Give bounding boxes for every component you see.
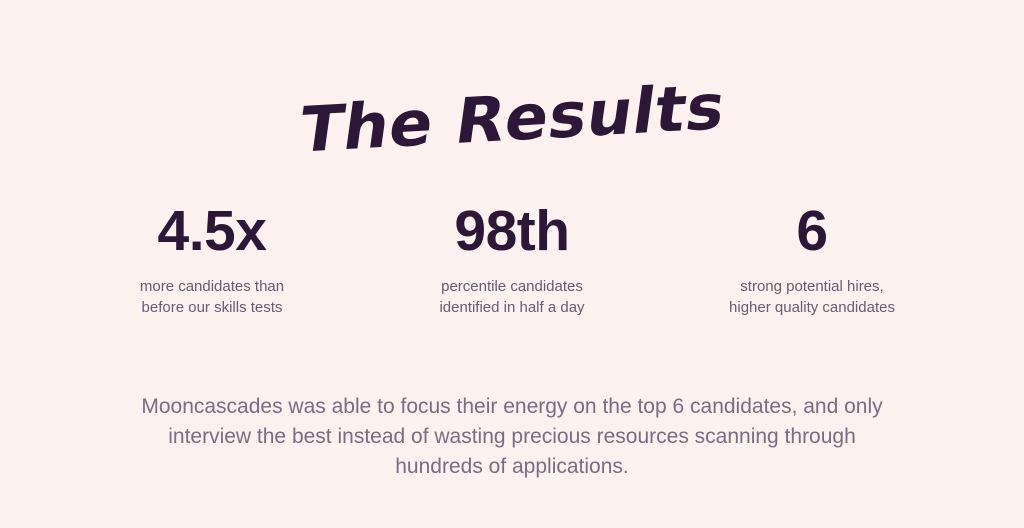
stat-card: 6 strong potential hires, higher quality… [662, 200, 962, 318]
stats-row: 4.5x more candidates than before our ski… [62, 200, 962, 318]
stat-caption-line: identified in half a day [368, 297, 656, 318]
stat-caption-line: more candidates than [68, 276, 356, 297]
stat-value: 98th [368, 200, 656, 262]
stat-caption-line: percentile candidates [368, 276, 656, 297]
stat-card: 4.5x more candidates than before our ski… [62, 200, 362, 318]
results-slide: The Results 4.5x more candidates than be… [0, 0, 1024, 528]
stat-value: 4.5x [68, 200, 356, 262]
stat-caption-line: strong potential hires, [668, 276, 956, 297]
summary-line: Mooncascades was able to focus their ene… [112, 392, 912, 422]
stat-caption: strong potential hires, higher quality c… [668, 276, 956, 318]
stat-card: 98th percentile candidates identified in… [362, 200, 662, 318]
stat-caption-line: before our skills tests [68, 297, 356, 318]
summary-line: hundreds of applications. [112, 452, 912, 482]
stat-caption-line: higher quality candidates [668, 297, 956, 318]
summary-paragraph: Mooncascades was able to focus their ene… [112, 392, 912, 482]
page-title-container: The Results [0, 44, 1024, 195]
stat-caption: percentile candidates identified in half… [368, 276, 656, 318]
stat-value: 6 [668, 200, 956, 262]
stat-caption: more candidates than before our skills t… [68, 276, 356, 318]
page-title: The Results [295, 75, 729, 165]
summary-line: interview the best instead of wasting pr… [112, 422, 912, 452]
